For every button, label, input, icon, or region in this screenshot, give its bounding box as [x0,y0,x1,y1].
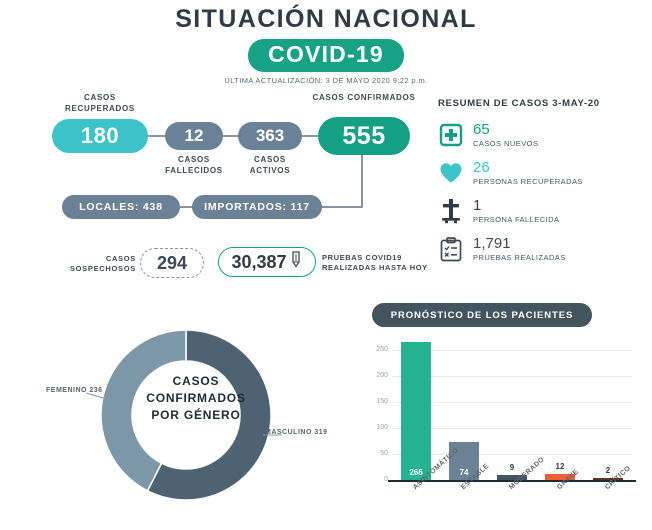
connector-line [148,135,166,137]
connector-line [321,206,362,208]
stat-casos-sospechosos: 294 [140,248,204,278]
donut-center-title: CASOS CONFIRMADOS POR GÉNERO [143,373,249,424]
medical-plus-icon [438,120,464,150]
resumen-item-personas-recuperadas: 26 PERSONAS RECUPERADAS [438,154,648,192]
secondary-stats-row: CASOS SOSPECHOSOS 294 30,387 PRUEBAS COV… [0,245,430,289]
resumen-item-persona-fallecida: 1 PERSONA FALLECIDA [438,192,648,230]
label-casos-activos: CASOS ACTIVOS [236,154,304,176]
resumen-item-text: 1 PERSONA FALLECIDA [473,198,559,225]
stat-casos-fallecidos: 12 [165,122,223,150]
bar-value-label: 9 [497,463,527,472]
bar-value-label: 12 [545,462,575,471]
resumen-value: 1 [473,198,559,214]
stat-importados: IMPORTADOS: 117 [192,195,322,219]
y-axis-tick: 200 [376,372,388,379]
resumen-title: RESUMEN DE CASOS 3-MAY-20 [438,98,648,109]
page-title: SITUACIÓN NACIONAL [0,4,652,34]
y-axis-tick: 150 [376,398,388,405]
y-axis-tick: 50 [380,450,388,457]
covid-badge: COVID-19 [248,39,404,72]
connector-line [361,155,363,208]
resumen-caption: PERSONA FALLECIDA [473,215,559,225]
prognosis-bar-chart: PRONÓSTICO DE LOS PACIENTES 050100150200… [358,302,650,525]
clipboard-icon [438,234,464,264]
donut-title-line1: CASOS [143,373,249,390]
pruebas-value: 30,387 [231,252,286,273]
resumen-item-casos-nuevos: 65 CASOS NUEVOS [438,116,648,154]
header: SITUACIÓN NACIONAL COVID-19 ÚLTIMA ACTUA… [0,4,652,85]
pencil-icon [290,251,303,273]
label-casos-sospechosos: CASOS SOSPECHOSOS [62,254,136,274]
pruebas-caption-line1: PRUEBAS COVID19 [322,253,428,263]
grave-cross-icon [438,196,464,226]
label-casos-recuperados: CASOS RECUPERADOS [52,92,148,114]
bar-plot-area: 050100150200250266749122 [392,340,632,480]
donut-label-masculino: MASCULINO 319 [265,429,328,436]
stat-casos-recuperados: 180 [52,119,148,153]
resumen-item-text: 26 PERSONAS RECUPERADAS [473,160,583,187]
bar-asintomático [401,342,431,480]
stat-pruebas-totales: 30,387 [218,247,316,277]
gender-donut-chart: CASOS CONFIRMADOS POR GÉNERO FEMENINO 23… [20,305,360,525]
resumen-value: 1,791 [473,236,566,252]
bar-chart-title: PRONÓSTICO DE LOS PACIENTES [372,303,592,327]
resumen-caption: CASOS NUEVOS [473,139,538,149]
donut-label-femenino: FEMENINO 236 [46,387,103,394]
resumen-panel: RESUMEN DE CASOS 3-MAY-20 65 CASOS NUEVO… [438,98,648,268]
stat-casos-activos: 363 [238,122,302,150]
infographic-page: SITUACIÓN NACIONAL COVID-19 ÚLTIMA ACTUA… [0,0,652,525]
y-axis-tick: 100 [376,424,388,431]
resumen-caption: PERSONAS RECUPERADAS [473,177,583,187]
resumen-caption: PRUEBAS REALIZADAS [473,253,566,263]
label-casos-fallecidos: CASOS FALLECIDOS [162,154,226,176]
heart-icon [438,158,464,188]
resumen-value: 26 [473,160,583,176]
pruebas-caption-line2: REALIZADAS HASTA HOY [322,263,428,273]
donut-title-line3: POR GÉNERO [143,407,249,424]
last-update-text: ÚLTIMA ACTUALIZACIÓN: 3 DE MAYO 2020 9:2… [0,76,652,85]
stat-locales: LOCALES: 438 [62,195,180,219]
resumen-value: 65 [473,122,538,138]
pruebas-caption: PRUEBAS COVID19 REALIZADAS HASTA HOY [322,253,428,273]
resumen-item-pruebas-realizadas: 1,791 PRUEBAS REALIZADAS [438,230,648,268]
resumen-item-text: 65 CASOS NUEVOS [473,122,538,149]
y-axis-tick: 250 [376,346,388,353]
connector-line [222,135,239,137]
resumen-item-text: 1,791 PRUEBAS REALIZADAS [473,236,566,263]
connector-line [301,135,319,137]
stat-casos-confirmados: 555 [318,117,410,155]
label-casos-confirmados: CASOS CONFIRMADOS [309,92,419,103]
donut-title-line2: CONFIRMADOS [143,390,249,407]
